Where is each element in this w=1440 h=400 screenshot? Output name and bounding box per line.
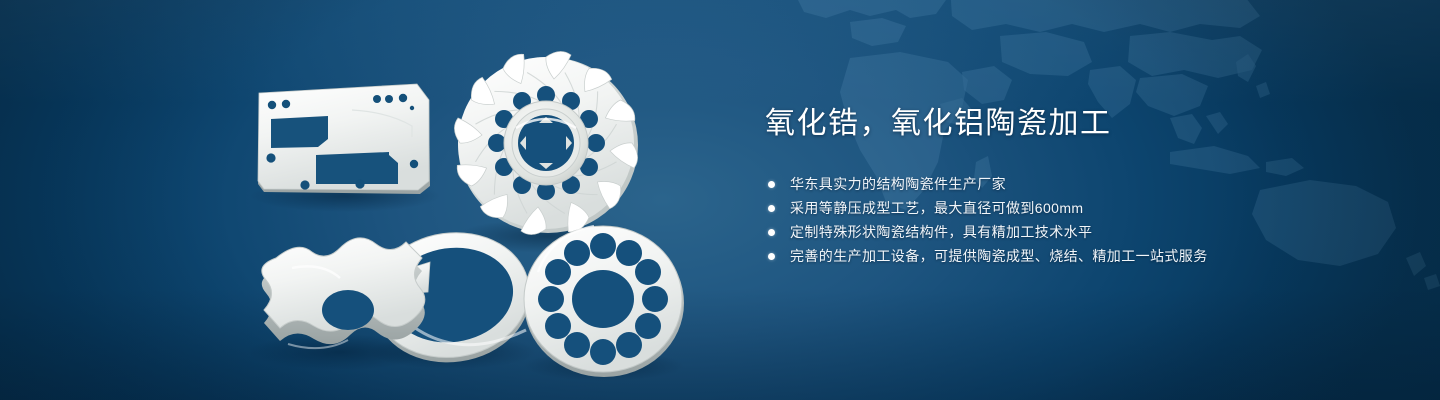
list-item: 华东具实力的结构陶瓷件生产厂家 — [768, 172, 1305, 196]
bullet-dot-icon — [768, 205, 775, 212]
hero-banner: 氧化锆，氧化铝陶瓷加工 华东具实力的结构陶瓷件生产厂家 采用等静压成型工艺，最大… — [0, 0, 1440, 400]
banner-copy: 氧化锆，氧化铝陶瓷加工 华东具实力的结构陶瓷件生产厂家 采用等静压成型工艺，最大… — [765, 104, 1305, 268]
bullet-dot-icon — [768, 253, 775, 260]
bullet-dot-icon — [768, 229, 775, 236]
feature-list: 华东具实力的结构陶瓷件生产厂家 采用等静压成型工艺，最大直径可做到600mm 定… — [768, 172, 1305, 268]
bullet-dot-icon — [768, 181, 775, 188]
feature-text: 华东具实力的结构陶瓷件生产厂家 — [790, 176, 1006, 192]
banner-headline: 氧化锆，氧化铝陶瓷加工 — [765, 104, 1305, 144]
list-item: 采用等静压成型工艺，最大直径可做到600mm — [768, 196, 1305, 220]
feature-text: 完善的生产加工设备，可提供陶瓷成型、烧结、精加工一站式服务 — [790, 248, 1208, 264]
list-item: 定制特殊形状陶瓷结构件，具有精加工技术水平 — [768, 220, 1305, 244]
feature-text: 采用等静压成型工艺，最大直径可做到600mm — [790, 200, 1083, 216]
list-item: 完善的生产加工设备，可提供陶瓷成型、烧结、精加工一站式服务 — [768, 244, 1305, 268]
feature-text: 定制特殊形状陶瓷结构件，具有精加工技术水平 — [790, 224, 1092, 240]
